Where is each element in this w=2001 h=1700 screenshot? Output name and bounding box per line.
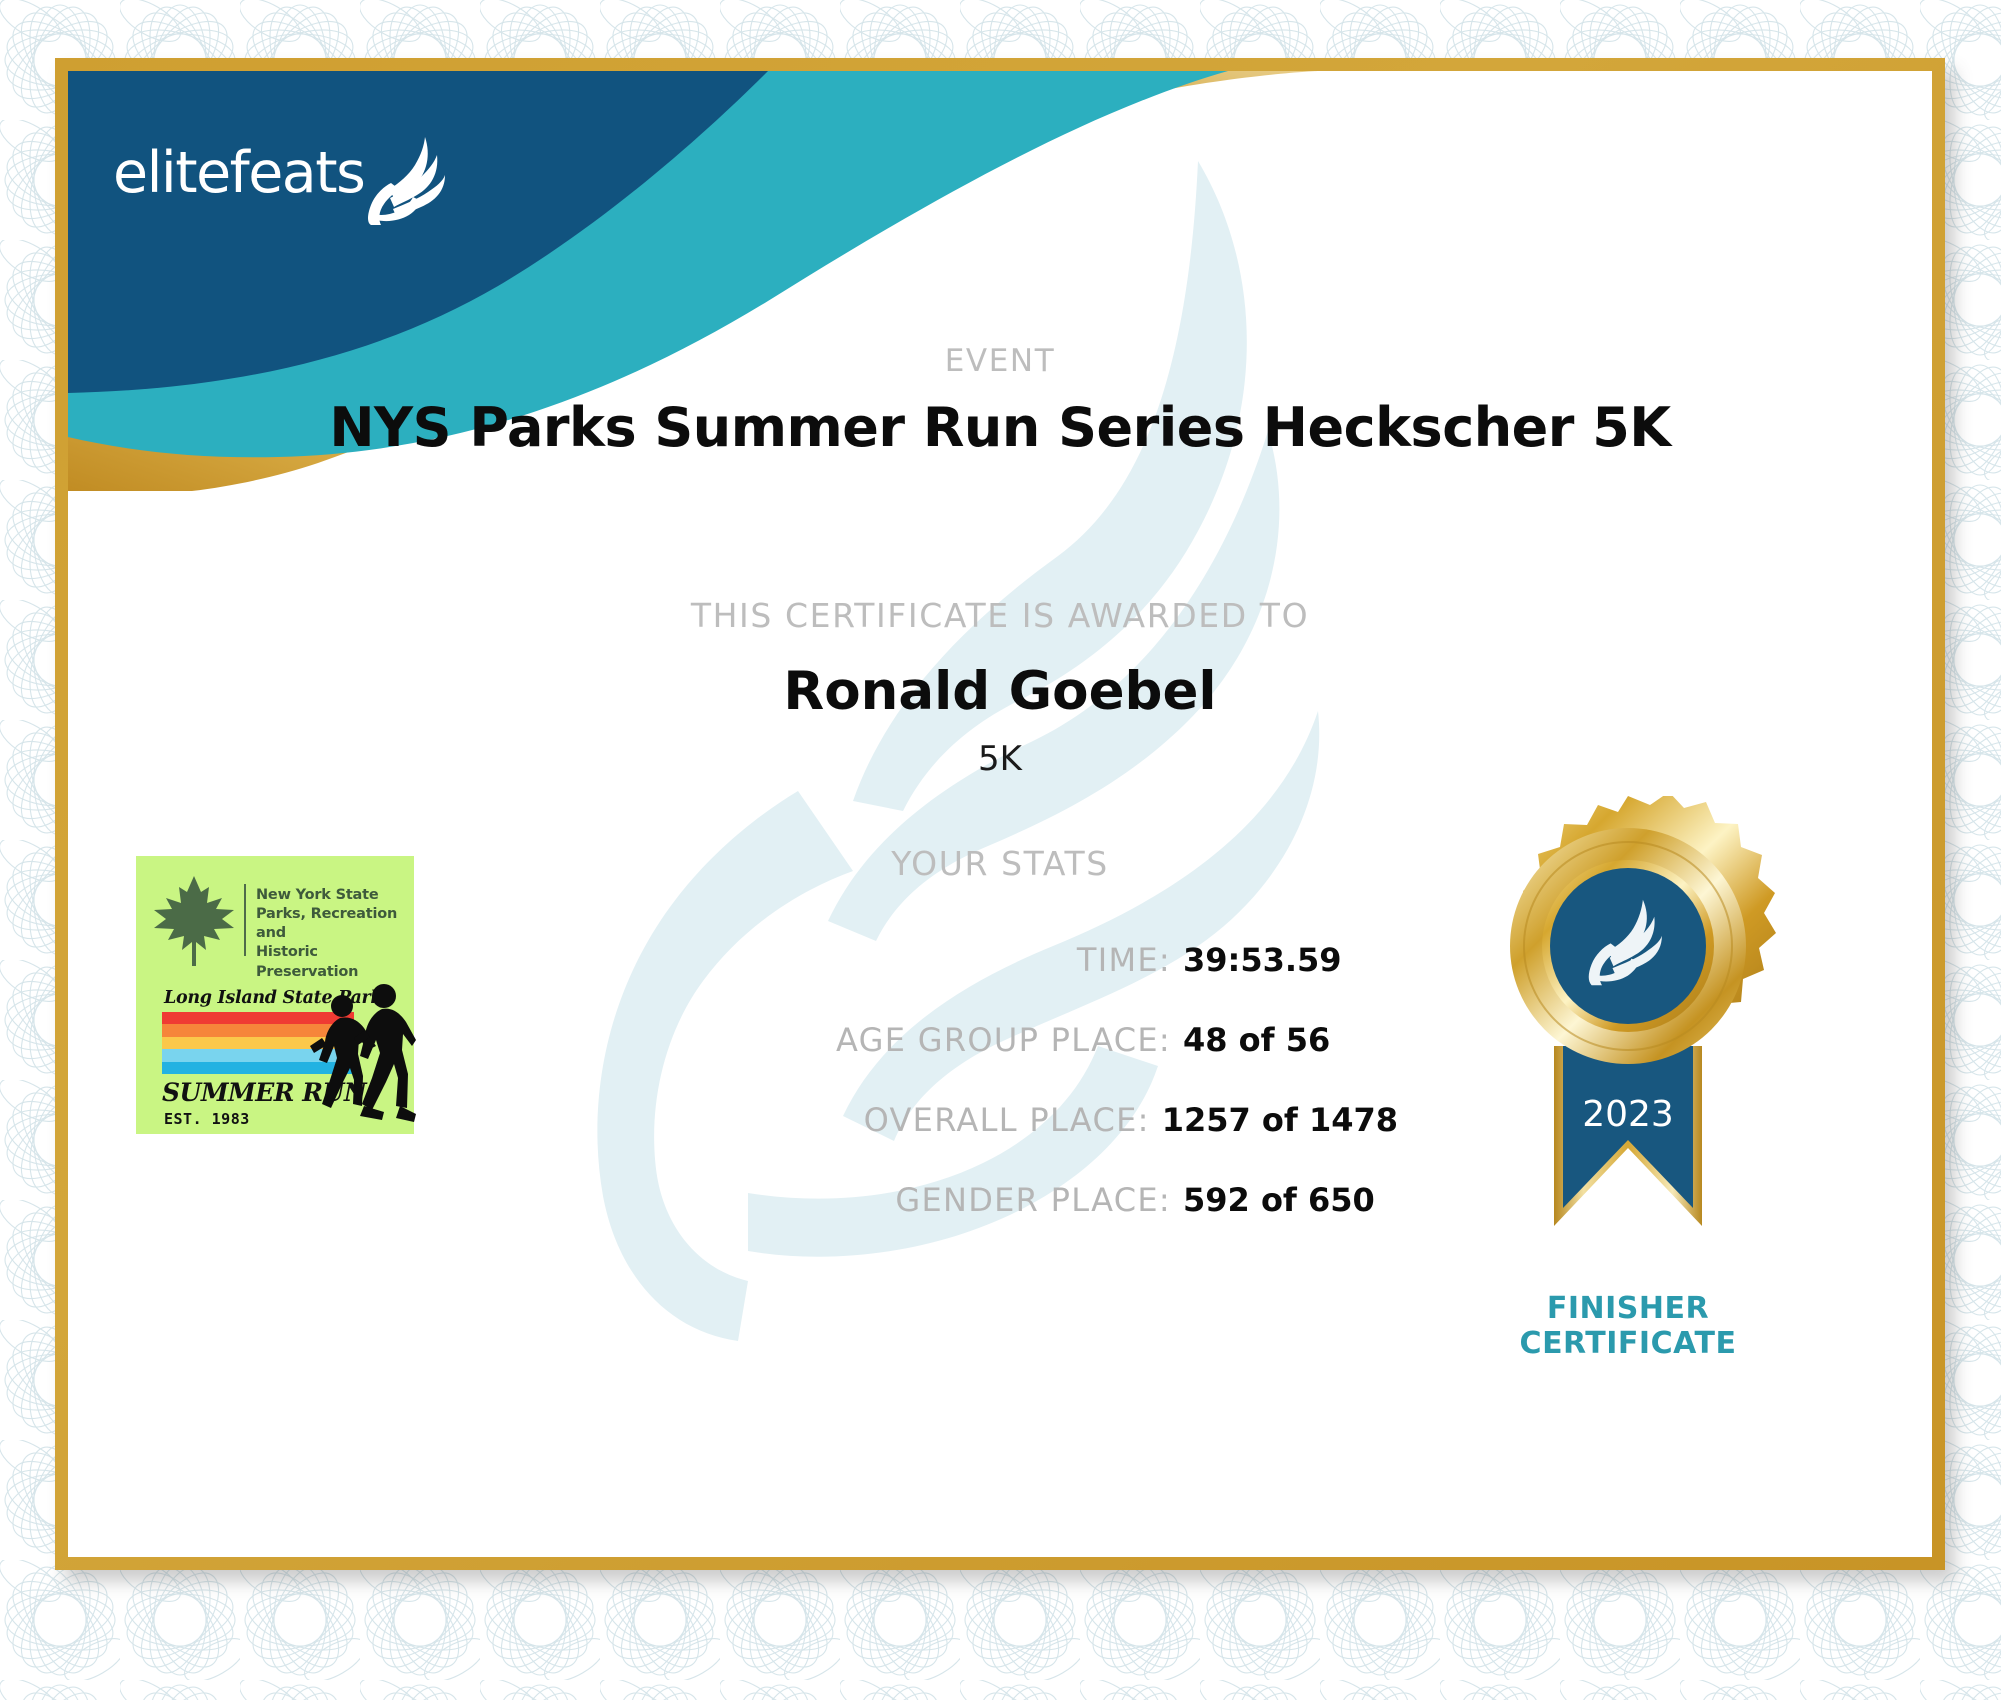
elitefeats-wordmark: elitefeats (113, 145, 364, 202)
finisher-caption: FINISHER CERTIFICATE (1468, 1291, 1788, 1362)
stat-key-age-group-place: AGE GROUP PLACE: (836, 1021, 1171, 1059)
stat-key-gender-place: GENDER PLACE: (895, 1181, 1171, 1219)
certificate-page: elitefeats EVENT NYS Parks Summer Run Se… (0, 0, 2001, 1700)
stat-row: AGE GROUP PLACE: 48 of 56 (398, 1021, 1398, 1077)
established-text: EST. 1983 (164, 1110, 250, 1128)
winged-foot-icon (361, 133, 451, 225)
stats-list: TIME: 39:53.59 AGE GROUP PLACE: 48 of 56… (398, 941, 1398, 1261)
nys-parks-agency-mark: New York State Parks, Recreation and His… (148, 874, 404, 970)
stat-key-overall-place: OVERALL PLACE: (864, 1101, 1150, 1139)
recipient-name: Ronald Goebel (68, 661, 1932, 722)
agency-line-2: Parks, Recreation and (256, 905, 404, 943)
stat-value-gender-place: 592 of 650 (1183, 1181, 1398, 1219)
nys-parks-agency-text: New York State Parks, Recreation and His… (256, 886, 404, 982)
stat-value-age-group-place: 48 of 56 (1183, 1021, 1398, 1059)
event-title: NYS Parks Summer Run Series Heckscher 5K (68, 396, 1932, 459)
certificate-frame: elitefeats EVENT NYS Parks Summer Run Se… (55, 58, 1945, 1570)
stat-row: TIME: 39:53.59 (398, 941, 1398, 997)
finisher-medal: 2023 FINISHER CERTIFICATE (1468, 796, 1788, 1416)
finisher-line-1: FINISHER (1468, 1291, 1788, 1326)
certificate-body: elitefeats EVENT NYS Parks Summer Run Se… (68, 71, 1932, 1557)
stat-value-overall-place: 1257 of 1478 (1162, 1101, 1398, 1139)
stat-row: OVERALL PLACE: 1257 of 1478 (398, 1101, 1398, 1157)
medal-year: 2023 (1582, 1094, 1674, 1135)
race-distance: 5K (68, 739, 1932, 779)
finisher-line-2: CERTIFICATE (1468, 1326, 1788, 1361)
runners-silhouette-icon (304, 980, 416, 1132)
logo-divider (244, 884, 246, 956)
stat-key-time: TIME: (1077, 941, 1171, 979)
nys-parks-summer-run-logo: New York State Parks, Recreation and His… (136, 856, 414, 1134)
maple-leaf-icon (152, 874, 236, 966)
awarded-to-label: THIS CERTIFICATE IS AWARDED TO (68, 596, 1932, 635)
elitefeats-logo: elitefeats (113, 139, 453, 225)
stat-row: GENDER PLACE: 592 of 650 (398, 1181, 1398, 1237)
medal-graphic: 2023 (1468, 796, 1788, 1316)
event-label: EVENT (68, 343, 1932, 379)
summer-run-mark: Long Island State Parks SUMMER RUN EST. … (136, 986, 414, 1134)
agency-line-3: Historic Preservation (256, 943, 404, 981)
stat-value-time: 39:53.59 (1183, 941, 1398, 979)
agency-line-1: New York State (256, 886, 404, 905)
